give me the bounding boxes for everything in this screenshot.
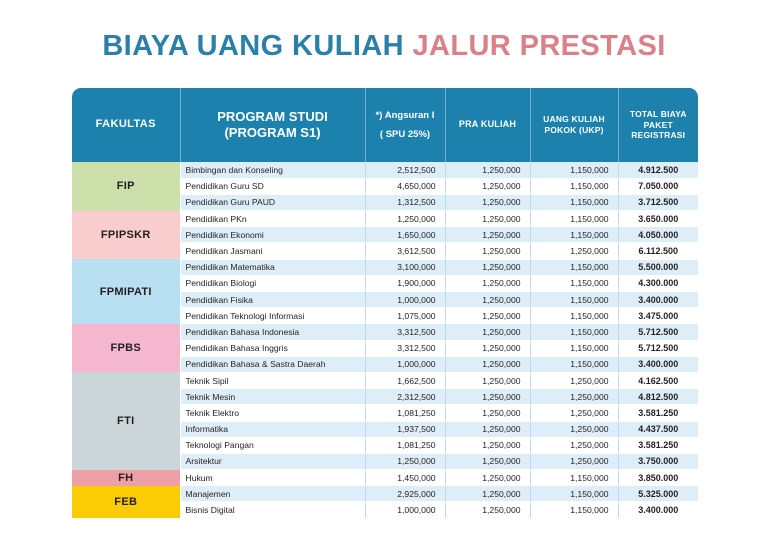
ukp-cell: 1,150,000 xyxy=(530,227,618,243)
ukp-cell: 1,150,000 xyxy=(530,340,618,356)
column-header-angsuran-label: *) Angsuran I xyxy=(376,110,435,121)
table-row: FPMIPATIPendidikan Matematika3,100,0001,… xyxy=(72,259,698,275)
total-biaya-cell: 5.712.500 xyxy=(618,324,698,340)
column-header-fakultas: FAKULTAS xyxy=(72,88,180,162)
column-header-ukp-sublabel: POKOK (UKP) xyxy=(534,125,615,136)
program-studi-cell: Teknik Elektro xyxy=(180,405,365,421)
angsuran-cell: 1,250,000 xyxy=(365,453,445,469)
column-header-total: TOTAL BIAYA PAKET REGISTRASI xyxy=(618,88,698,162)
faculty-group-cell-fip: FIP xyxy=(72,162,180,211)
faculty-group-cell-fpbs: FPBS xyxy=(72,324,180,373)
tuition-fee-table: FAKULTAS PROGRAM STUDI (PROGRAM S1) *) A… xyxy=(72,88,698,519)
program-studi-cell: Pendidikan Teknologi Informasi xyxy=(180,308,365,324)
page-title-accent: JALUR PRESTASI xyxy=(412,30,665,62)
column-header-total-sublabel: PAKET xyxy=(622,120,696,131)
ukp-cell: 1,150,000 xyxy=(530,162,618,178)
angsuran-cell: 1,075,000 xyxy=(365,308,445,324)
table-row: FPIPSKRPendidikan PKn1,250,0001,250,0001… xyxy=(72,211,698,227)
program-studi-cell: Manajemen xyxy=(180,486,365,502)
total-biaya-cell: 5.325.000 xyxy=(618,486,698,502)
angsuran-cell: 2,312,500 xyxy=(365,389,445,405)
pra-kuliah-cell: 1,250,000 xyxy=(445,292,530,308)
pra-kuliah-cell: 1,250,000 xyxy=(445,308,530,324)
angsuran-cell: 1,312,500 xyxy=(365,194,445,210)
pra-kuliah-cell: 1,250,000 xyxy=(445,340,530,356)
total-biaya-cell: 3.400.000 xyxy=(618,356,698,372)
angsuran-cell: 3,312,500 xyxy=(365,324,445,340)
program-studi-cell: Pendidikan Guru PAUD xyxy=(180,194,365,210)
column-header-ukp-label: UANG KULIAH xyxy=(543,114,605,124)
page-root: BIAYA UANG KULIAH JALUR PRESTASI FAKULTA… xyxy=(0,0,768,541)
pra-kuliah-cell: 1,250,000 xyxy=(445,227,530,243)
column-header-fakultas-label: FAKULTAS xyxy=(96,118,156,130)
program-studi-cell: Pendidikan Biologi xyxy=(180,275,365,291)
ukp-cell: 1,150,000 xyxy=(530,502,618,518)
angsuran-cell: 1,081,250 xyxy=(365,405,445,421)
ukp-cell: 1,150,000 xyxy=(530,486,618,502)
column-header-pra-kuliah-label: PRA KULIAH xyxy=(459,119,516,129)
angsuran-cell: 1,250,000 xyxy=(365,211,445,227)
ukp-cell: 1,150,000 xyxy=(530,324,618,340)
total-biaya-cell: 3.750.000 xyxy=(618,453,698,469)
column-header-program-studi-sublabel: (PROGRAM S1) xyxy=(184,125,362,141)
page-title-main: BIAYA UANG KULIAH xyxy=(102,30,412,62)
faculty-group-cell-feb: FEB xyxy=(72,486,180,518)
program-studi-cell: Bisnis Digital xyxy=(180,502,365,518)
program-studi-cell: Pendidikan Matematika xyxy=(180,259,365,275)
angsuran-cell: 1,000,000 xyxy=(365,356,445,372)
column-header-angsuran-sublabel: ( SPU 25%) xyxy=(369,129,442,141)
total-biaya-cell: 4.300.000 xyxy=(618,275,698,291)
ukp-cell: 1,150,000 xyxy=(530,259,618,275)
total-biaya-cell: 3.650.000 xyxy=(618,211,698,227)
total-biaya-cell: 4.812.500 xyxy=(618,389,698,405)
angsuran-cell: 2,512,500 xyxy=(365,162,445,178)
angsuran-cell: 1,937,500 xyxy=(365,421,445,437)
total-biaya-cell: 3.400.000 xyxy=(618,292,698,308)
program-studi-cell: Teknik Mesin xyxy=(180,389,365,405)
total-biaya-cell: 7.050.000 xyxy=(618,178,698,194)
program-studi-cell: Pendidikan Bahasa Indonesia xyxy=(180,324,365,340)
column-header-total-label: TOTAL BIAYA xyxy=(630,109,687,119)
pra-kuliah-cell: 1,250,000 xyxy=(445,324,530,340)
column-header-total-sublabel2: REGISTRASI xyxy=(622,130,696,141)
table-row: FEBManajemen2,925,0001,250,0001,150,0005… xyxy=(72,486,698,502)
column-header-program-studi: PROGRAM STUDI (PROGRAM S1) xyxy=(180,88,365,162)
pra-kuliah-cell: 1,250,000 xyxy=(445,259,530,275)
program-studi-cell: Pendidikan Ekonomi xyxy=(180,227,365,243)
program-studi-cell: Pendidikan Fisika xyxy=(180,292,365,308)
program-studi-cell: Informatika xyxy=(180,421,365,437)
angsuran-cell: 3,612,500 xyxy=(365,243,445,259)
ukp-cell: 1,150,000 xyxy=(530,356,618,372)
table-row: FHHukum1,450,0001,250,0001,150,0003.850.… xyxy=(72,470,698,486)
program-studi-cell: Pendidikan Guru SD xyxy=(180,178,365,194)
total-biaya-cell: 3.581.250 xyxy=(618,437,698,453)
total-biaya-cell: 5.500.000 xyxy=(618,259,698,275)
program-studi-cell: Hukum xyxy=(180,470,365,486)
pra-kuliah-cell: 1,250,000 xyxy=(445,502,530,518)
ukp-cell: 1,250,000 xyxy=(530,421,618,437)
page-title: BIAYA UANG KULIAH JALUR PRESTASI xyxy=(0,30,768,63)
ukp-cell: 1,150,000 xyxy=(530,470,618,486)
program-studi-cell: Teknik Sipil xyxy=(180,372,365,388)
total-biaya-cell: 3.850.000 xyxy=(618,470,698,486)
column-header-pra-kuliah: PRA KULIAH xyxy=(445,88,530,162)
total-biaya-cell: 6.112.500 xyxy=(618,243,698,259)
program-studi-cell: Arsitektur xyxy=(180,453,365,469)
program-studi-cell: Pendidikan PKn xyxy=(180,211,365,227)
ukp-cell: 1,250,000 xyxy=(530,243,618,259)
ukp-cell: 1,250,000 xyxy=(530,405,618,421)
angsuran-cell: 3,312,500 xyxy=(365,340,445,356)
ukp-cell: 1,250,000 xyxy=(530,372,618,388)
angsuran-cell: 1,662,500 xyxy=(365,372,445,388)
pra-kuliah-cell: 1,250,000 xyxy=(445,356,530,372)
ukp-cell: 1,250,000 xyxy=(530,453,618,469)
angsuran-cell: 2,925,000 xyxy=(365,486,445,502)
pra-kuliah-cell: 1,250,000 xyxy=(445,372,530,388)
fee-table-container: FAKULTAS PROGRAM STUDI (PROGRAM S1) *) A… xyxy=(72,88,698,519)
total-biaya-cell: 3.581.250 xyxy=(618,405,698,421)
program-studi-cell: Bimbingan dan Konseling xyxy=(180,162,365,178)
faculty-group-cell-fti: FTI xyxy=(72,372,180,469)
program-studi-cell: Pendidikan Jasmani xyxy=(180,243,365,259)
column-header-angsuran: *) Angsuran I ( SPU 25%) xyxy=(365,88,445,162)
pra-kuliah-cell: 1,250,000 xyxy=(445,470,530,486)
program-studi-cell: Pendidikan Bahasa Inggris xyxy=(180,340,365,356)
pra-kuliah-cell: 1,250,000 xyxy=(445,211,530,227)
angsuran-cell: 1,000,000 xyxy=(365,292,445,308)
table-row: FPBSPendidikan Bahasa Indonesia3,312,500… xyxy=(72,324,698,340)
total-biaya-cell: 5.712.500 xyxy=(618,340,698,356)
pra-kuliah-cell: 1,250,000 xyxy=(445,453,530,469)
total-biaya-cell: 3.475.000 xyxy=(618,308,698,324)
ukp-cell: 1,250,000 xyxy=(530,437,618,453)
pra-kuliah-cell: 1,250,000 xyxy=(445,162,530,178)
pra-kuliah-cell: 1,250,000 xyxy=(445,178,530,194)
pra-kuliah-cell: 1,250,000 xyxy=(445,243,530,259)
angsuran-cell: 3,100,000 xyxy=(365,259,445,275)
program-studi-cell: Pendidikan Bahasa & Sastra Daerah xyxy=(180,356,365,372)
pra-kuliah-cell: 1,250,000 xyxy=(445,275,530,291)
angsuran-cell: 1,900,000 xyxy=(365,275,445,291)
ukp-cell: 1,150,000 xyxy=(530,211,618,227)
angsuran-cell: 1,450,000 xyxy=(365,470,445,486)
table-body: FIPBimbingan dan Konseling2,512,5001,250… xyxy=(72,162,698,518)
pra-kuliah-cell: 1,250,000 xyxy=(445,421,530,437)
table-row: FIPBimbingan dan Konseling2,512,5001,250… xyxy=(72,162,698,178)
angsuran-cell: 1,081,250 xyxy=(365,437,445,453)
ukp-cell: 1,150,000 xyxy=(530,308,618,324)
column-header-program-studi-label: PROGRAM STUDI xyxy=(217,109,328,124)
angsuran-cell: 4,650,000 xyxy=(365,178,445,194)
table-header: FAKULTAS PROGRAM STUDI (PROGRAM S1) *) A… xyxy=(72,88,698,162)
ukp-cell: 1,250,000 xyxy=(530,389,618,405)
pra-kuliah-cell: 1,250,000 xyxy=(445,486,530,502)
total-biaya-cell: 3.400.000 xyxy=(618,502,698,518)
ukp-cell: 1,150,000 xyxy=(530,275,618,291)
ukp-cell: 1,150,000 xyxy=(530,194,618,210)
total-biaya-cell: 4.912.500 xyxy=(618,162,698,178)
faculty-group-cell-fpmipati: FPMIPATI xyxy=(72,259,180,324)
faculty-group-cell-fpipskr: FPIPSKR xyxy=(72,211,180,260)
program-studi-cell: Teknologi Pangan xyxy=(180,437,365,453)
table-header-row: FAKULTAS PROGRAM STUDI (PROGRAM S1) *) A… xyxy=(72,88,698,162)
total-biaya-cell: 3.712.500 xyxy=(618,194,698,210)
pra-kuliah-cell: 1,250,000 xyxy=(445,437,530,453)
angsuran-cell: 1,000,000 xyxy=(365,502,445,518)
faculty-group-cell-fh: FH xyxy=(72,470,180,486)
column-header-ukp: UANG KULIAH POKOK (UKP) xyxy=(530,88,618,162)
pra-kuliah-cell: 1,250,000 xyxy=(445,405,530,421)
total-biaya-cell: 4.050.000 xyxy=(618,227,698,243)
ukp-cell: 1,150,000 xyxy=(530,292,618,308)
total-biaya-cell: 4.437.500 xyxy=(618,421,698,437)
pra-kuliah-cell: 1,250,000 xyxy=(445,389,530,405)
pra-kuliah-cell: 1,250,000 xyxy=(445,194,530,210)
header-spacer xyxy=(369,122,442,129)
table-row: FTITeknik Sipil1,662,5001,250,0001,250,0… xyxy=(72,372,698,388)
total-biaya-cell: 4.162.500 xyxy=(618,372,698,388)
ukp-cell: 1,150,000 xyxy=(530,178,618,194)
angsuran-cell: 1,650,000 xyxy=(365,227,445,243)
